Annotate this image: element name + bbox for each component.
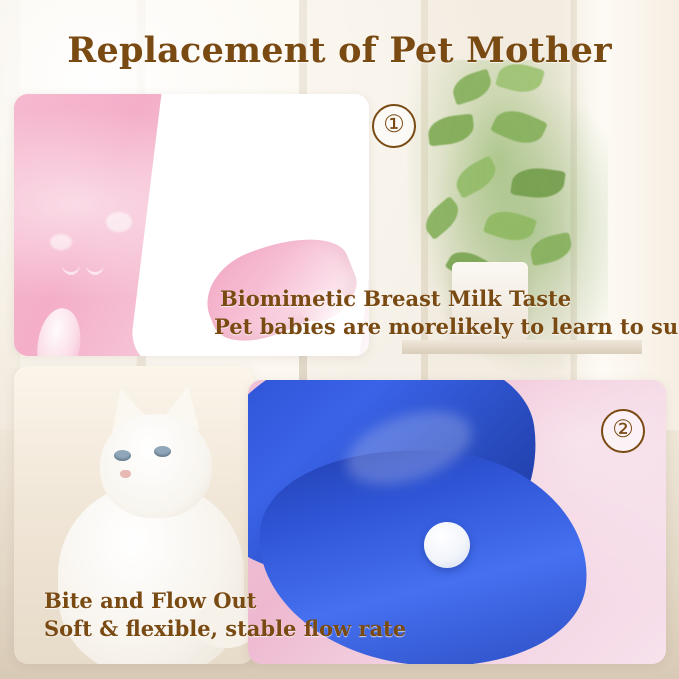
cat-nose xyxy=(120,470,131,478)
cat-eye-left xyxy=(114,450,131,461)
feature-2-subline: Soft & flexible, stable flow rate xyxy=(44,616,406,641)
cat-eye-right xyxy=(154,446,171,457)
cat-head xyxy=(100,414,212,518)
snout-contour xyxy=(86,254,104,275)
snout-contour xyxy=(62,254,80,275)
poster-root: Replacement of Pet Mother ① Biomimetic B… xyxy=(0,0,679,679)
snout-highlight xyxy=(50,234,72,250)
step-badge-2: ② xyxy=(601,409,645,453)
step-badge-1: ① xyxy=(372,104,416,148)
snout-highlight xyxy=(106,212,132,232)
feature-1-headline: Biomimetic Breast Milk Taste xyxy=(220,286,571,311)
feature-2-headline: Bite and Flow Out xyxy=(44,588,257,613)
window-shelf xyxy=(402,340,642,354)
milk-droplet xyxy=(424,522,470,568)
feature-1-subline: Pet babies are morelikely to learn to su… xyxy=(214,314,679,339)
page-title: Replacement of Pet Mother xyxy=(0,30,679,71)
